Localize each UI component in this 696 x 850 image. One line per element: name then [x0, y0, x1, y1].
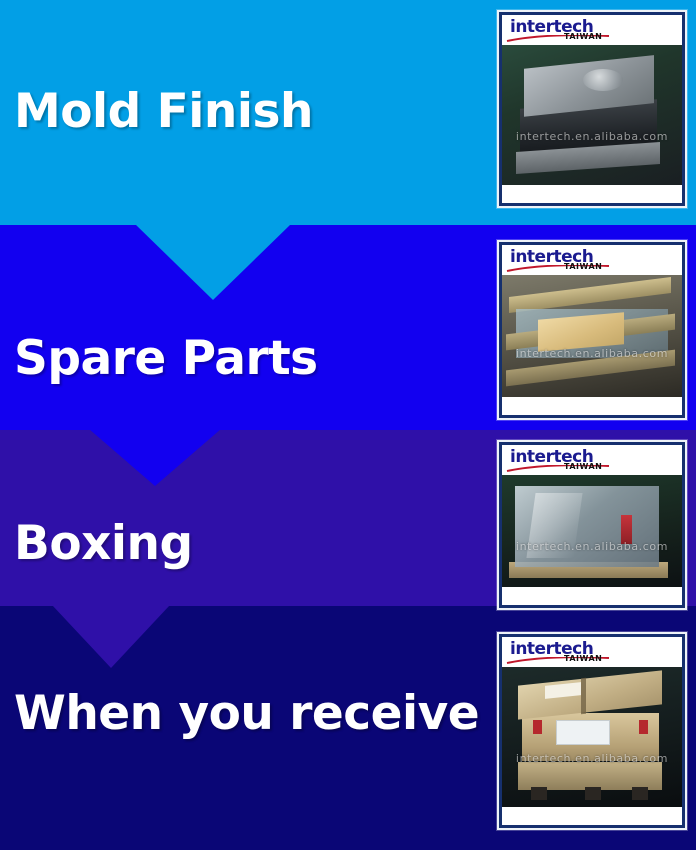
chevron-down-icon-1 — [135, 224, 291, 300]
step-label-mold-finish: Mold Finish — [14, 88, 313, 135]
logo-country-label: TAIWAN — [564, 462, 602, 471]
crate-clip-right — [639, 720, 648, 734]
photo-card-mold-finish[interactable]: intertech TAIWAN intertech.en.alibaba.co… — [497, 10, 687, 208]
shipping-label — [556, 720, 610, 745]
step-label-when-you-receive: When you receive — [14, 690, 479, 737]
crate-lid-seam — [581, 678, 586, 715]
mold-sprue-disc — [583, 69, 623, 91]
photo-card-boxing[interactable]: intertech TAIWAN intertech.en.alibaba.co… — [497, 440, 687, 610]
wrap-highlight — [526, 493, 582, 558]
logo-country-label: TAIWAN — [564, 32, 602, 41]
photo-frame: intertech TAIWAN intertech.en.alibaba.co… — [499, 442, 685, 608]
photo-card-when-you-receive[interactable]: intertech TAIWAN intertech.en.alibaba.co… — [497, 632, 687, 830]
photo-footer-strip — [502, 587, 682, 605]
slide-canvas: Mold Finish Spare Parts Boxing When you … — [0, 0, 696, 850]
chevron-down-icon-2 — [89, 429, 221, 486]
photo-image-spare-parts: intertech.en.alibaba.com — [502, 275, 682, 397]
intertech-logo: intertech TAIWAN — [502, 245, 682, 275]
photo-image-wrapped-mold: intertech.en.alibaba.com — [502, 475, 682, 587]
logo-country-label: TAIWAN — [564, 654, 602, 663]
photo-frame: intertech TAIWAN intertech.en.alibaba.co… — [499, 634, 685, 828]
photo-image-shipping-crate: intertech.en.alibaba.com — [502, 667, 682, 807]
step-label-spare-parts: Spare Parts — [14, 335, 318, 382]
step-label-boxing: Boxing — [14, 520, 193, 567]
intertech-logo: intertech TAIWAN — [502, 445, 682, 475]
photo-card-spare-parts[interactable]: intertech TAIWAN intertech.en.alibaba.co… — [497, 240, 687, 420]
crate-slat — [509, 277, 671, 313]
intertech-logo: intertech TAIWAN — [502, 637, 682, 667]
photo-footer-strip — [502, 185, 682, 203]
crate-lid — [518, 671, 662, 720]
crate-clip-left — [533, 720, 542, 734]
photo-footer-strip — [502, 807, 682, 825]
photo-image-mold: intertech.en.alibaba.com — [502, 45, 682, 185]
photo-frame: intertech TAIWAN intertech.en.alibaba.co… — [499, 242, 685, 418]
crate-foot — [585, 787, 601, 800]
intertech-logo: intertech TAIWAN — [502, 15, 682, 45]
photo-frame: intertech TAIWAN intertech.en.alibaba.co… — [499, 12, 685, 206]
red-strap — [621, 515, 632, 544]
crate-foot — [531, 787, 547, 800]
logo-country-label: TAIWAN — [564, 262, 602, 271]
crate-skid — [518, 762, 662, 790]
photo-footer-strip — [502, 397, 682, 415]
chevron-down-icon-3 — [52, 605, 170, 668]
crate-foot — [632, 787, 648, 800]
